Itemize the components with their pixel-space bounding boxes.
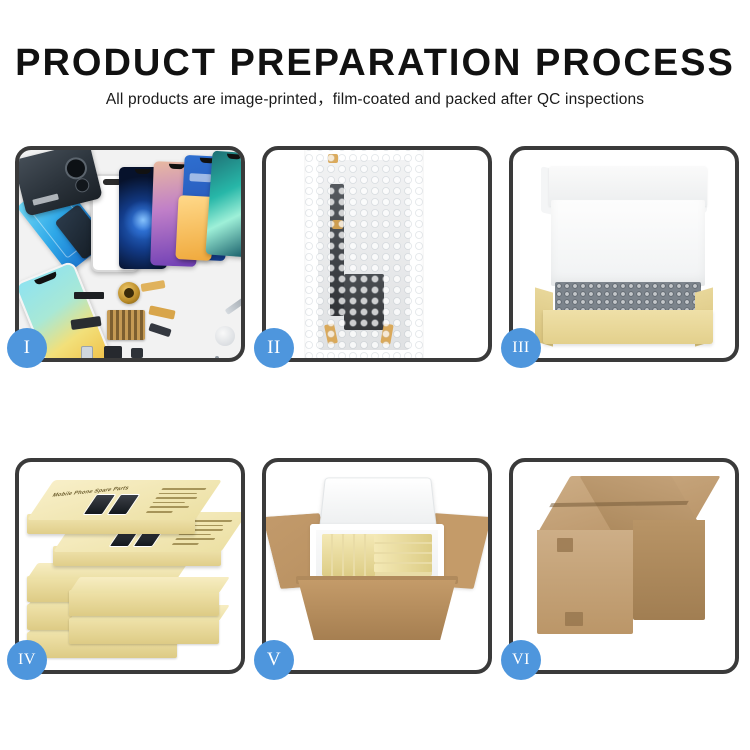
panel-5-image [266,462,488,670]
phone-teal-icon [205,151,241,258]
carton-face-left-icon [537,530,633,634]
panel-6-image [513,462,735,670]
carton-tape-upper-icon [557,538,573,552]
process-step-2[interactable]: II [262,146,492,362]
carton-tape-lower-icon [565,612,583,626]
printed-box-lower: Mobile Phone Spare Parts [53,546,221,566]
carton-face-right-icon [633,520,705,620]
step-badge-5: V [254,640,294,680]
yellow-box-front-icon [543,310,713,344]
process-grid: I II [0,0,750,750]
process-step-3[interactable]: III [509,146,739,362]
screw-grid-icon [107,310,145,340]
lcd-strip-icon [330,184,344,316]
step-badge-4: IV [7,640,47,680]
box-stack-icon: Mobile Phone Spare Parts Mobile Phone Sp… [27,480,241,664]
process-step-5[interactable]: V [262,458,492,674]
screwdriver-icon [225,295,241,315]
flex-cable-2-icon [148,305,175,319]
camera-module-icon [118,282,140,304]
side-button-icon [131,348,143,358]
step-badge-1: I [7,328,47,368]
panel-2-image [266,150,488,358]
white-foam-sheet-icon [551,200,705,286]
yellow-boxes-inside-icon [322,534,432,576]
speaker-module-icon [104,346,122,358]
panel-4-image: Mobile Phone Spare Parts Mobile Phone Sp… [19,462,241,670]
step-badge-3: III [501,328,541,368]
panel-3-image [513,150,735,358]
screw-dot-icon [215,356,219,358]
stacked-box [69,618,219,644]
tape-piece-icon [332,220,343,229]
hand-icon [215,326,235,346]
lcd-panel-icon [344,274,384,330]
product-preparation-process-page: PRODUCT PREPARATION PROCESS All products… [0,0,750,750]
carton-front-icon [298,580,456,640]
step-badge-6: VI [501,640,541,680]
panel-1-image [19,150,241,358]
process-step-1[interactable]: I [15,146,245,362]
battery-connector-icon [74,292,104,299]
step-badge-2: II [254,328,294,368]
box-lid-face-upper: Mobile Phone Spare Parts [27,480,222,520]
process-step-6[interactable]: VI [509,458,739,674]
stacked-box [69,590,219,616]
printed-box-upper: Mobile Phone Spare Parts [27,514,195,534]
process-step-4[interactable]: Mobile Phone Spare Parts Mobile Phone Sp… [15,458,245,674]
flex-cable-4-icon [148,323,171,337]
flex-cable-3-icon [140,280,165,292]
sim-tray-icon [81,346,93,358]
bubble-wrap-bag-icon [304,150,424,358]
tape-piece-icon [328,154,338,163]
